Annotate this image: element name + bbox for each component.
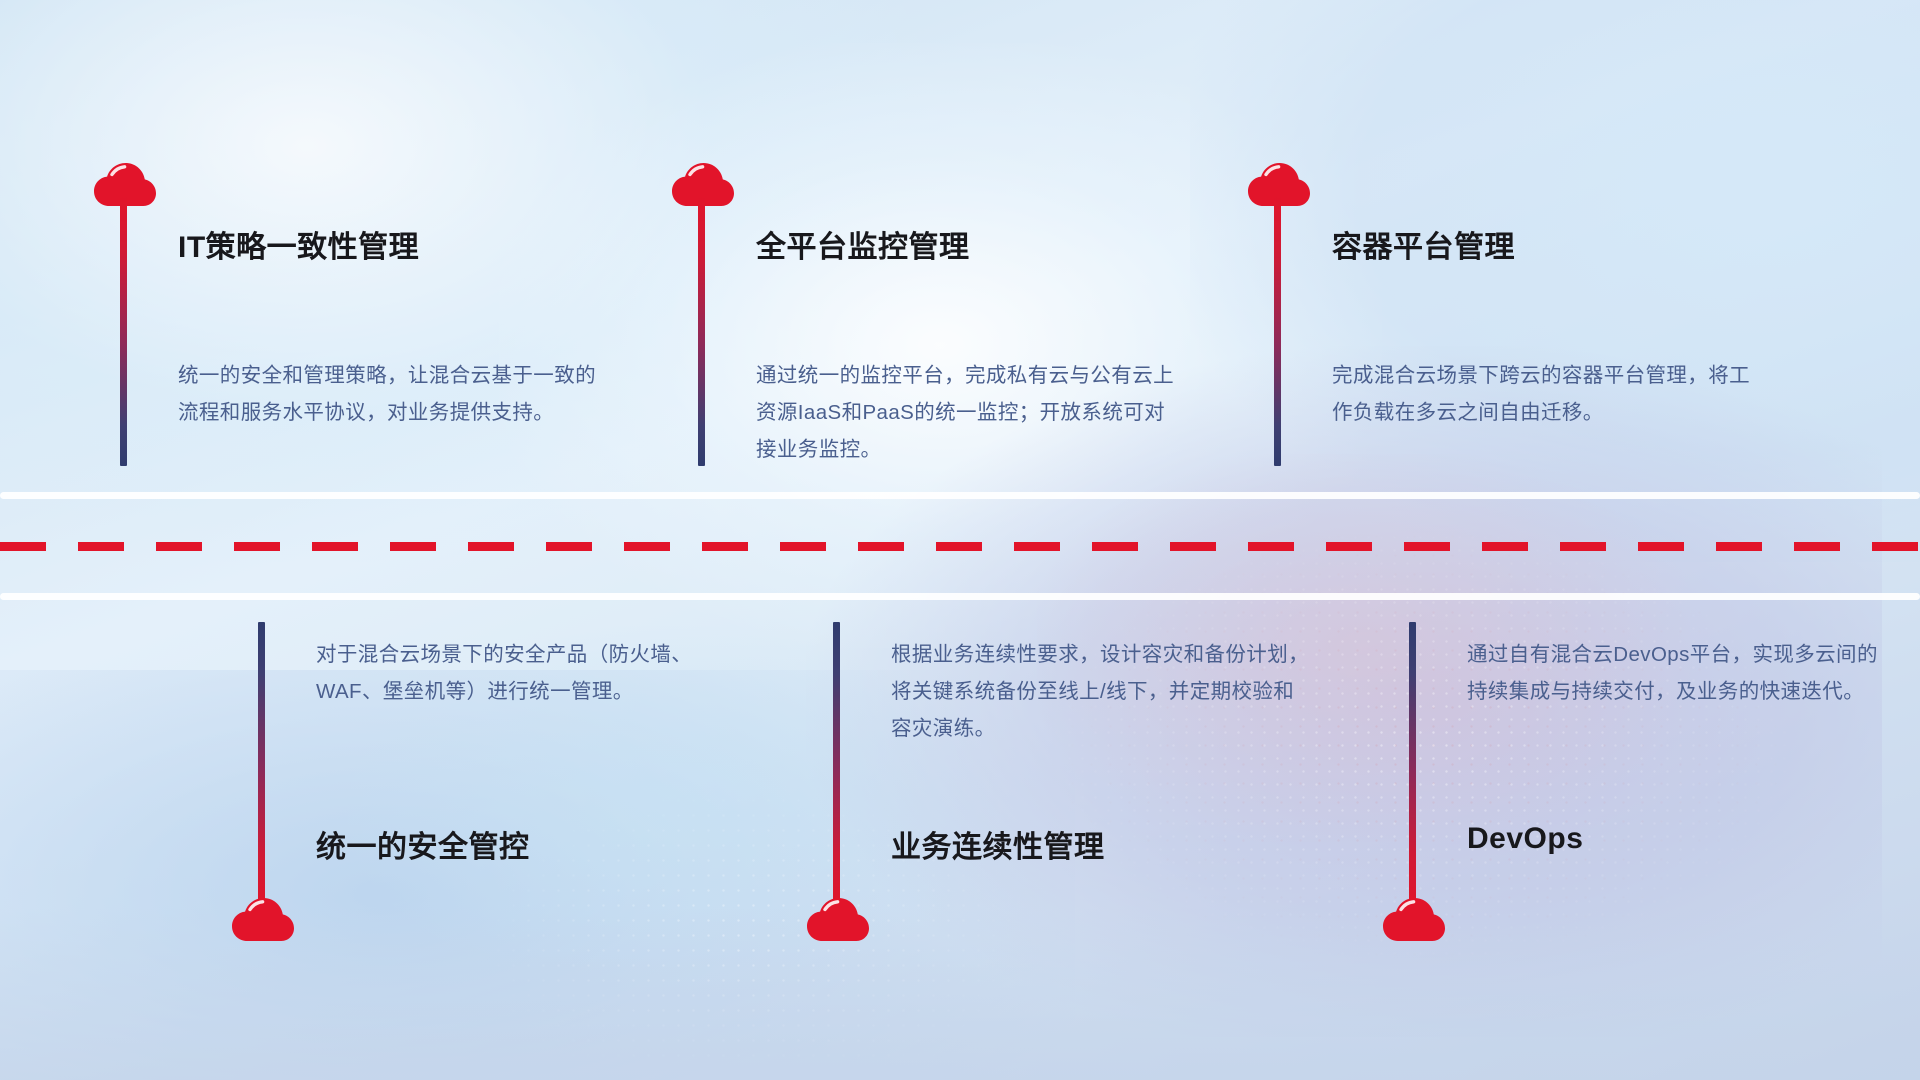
bottom-column-1-stem xyxy=(258,622,265,912)
divider-line-top xyxy=(0,492,1920,499)
bottom-column-2-stem xyxy=(833,622,840,912)
top-column-1-heading: IT策略一致性管理 xyxy=(178,222,419,266)
divider-line-bottom xyxy=(0,593,1920,600)
bottom-column-3-stem xyxy=(1409,622,1416,912)
top-column-3-body: 完成混合云场景下跨云的容器平台管理，将工作负载在多云之间自由迁移。 xyxy=(1332,357,1752,431)
divider-dashed-line xyxy=(0,542,1920,551)
top-column-1-stem xyxy=(120,196,127,466)
top-column-2-stem xyxy=(698,196,705,466)
top-column-1-body: 统一的安全和管理策略，让混合云基于一致的流程和服务水平协议，对业务提供支持。 xyxy=(178,357,598,431)
top-column-3-heading: 容器平台管理 xyxy=(1332,222,1515,266)
bottom-column-3-heading: DevOps xyxy=(1467,822,1583,856)
red-cloud-icon xyxy=(807,898,869,944)
top-column-2-heading: 全平台监控管理 xyxy=(756,222,970,266)
infographic-canvas: IT策略一致性管理 统一的安全和管理策略，让混合云基于一致的流程和服务水平协议，… xyxy=(0,0,1920,1080)
bottom-column-1-heading: 统一的安全管控 xyxy=(316,822,530,866)
top-column-3-stem xyxy=(1274,196,1281,466)
bottom-column-1-body: 对于混合云场景下的安全产品（防火墙、WAF、堡垒机等）进行统一管理。 xyxy=(316,636,736,710)
red-cloud-icon xyxy=(232,898,294,944)
top-column-2-body: 通过统一的监控平台，完成私有云与公有云上资源IaaS和PaaS的统一监控；开放系… xyxy=(756,357,1181,468)
divider-band xyxy=(0,492,1920,600)
bottom-column-3-body: 通过自有混合云DevOps平台，实现多云间的持续集成与持续交付，及业务的快速迭代… xyxy=(1467,636,1887,710)
bottom-column-2-body: 根据业务连续性要求，设计容灾和备份计划，将关键系统备份至线上/线下，并定期校验和… xyxy=(891,636,1311,747)
red-cloud-icon xyxy=(1383,898,1445,944)
bottom-column-2-heading: 业务连续性管理 xyxy=(891,822,1105,866)
